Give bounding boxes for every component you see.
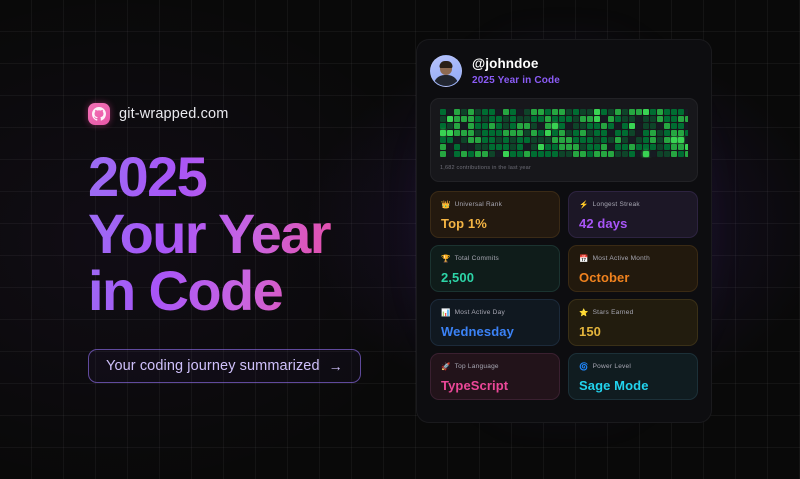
contribution-cell <box>608 151 614 157</box>
contribution-cell <box>594 130 600 136</box>
contribution-cell <box>580 144 586 150</box>
contribution-cell <box>447 137 453 143</box>
contribution-cell <box>629 151 635 157</box>
contribution-cell <box>503 109 509 115</box>
headline-line-3: in Code <box>88 262 388 319</box>
contribution-cell <box>461 144 467 150</box>
contribution-cell <box>629 137 635 143</box>
contribution-cell <box>447 130 453 136</box>
contribution-cell <box>475 144 481 150</box>
contribution-cell <box>510 137 516 143</box>
contribution-cell <box>503 123 509 129</box>
contribution-cell <box>496 130 502 136</box>
contribution-cell <box>468 123 474 129</box>
contribution-cell <box>601 130 607 136</box>
contribution-cell <box>475 151 481 157</box>
contribution-cell <box>671 109 677 115</box>
contribution-cell <box>440 130 446 136</box>
contribution-cell <box>489 109 495 115</box>
contribution-cell <box>657 109 663 115</box>
contribution-cell <box>503 151 509 157</box>
contribution-cell <box>510 151 516 157</box>
contribution-cell <box>615 137 621 143</box>
contribution-cell <box>573 144 579 150</box>
contribution-cell <box>601 109 607 115</box>
contribution-cell <box>503 116 509 122</box>
contribution-cell <box>643 151 649 157</box>
contribution-cell <box>566 123 572 129</box>
stat-value: Wednesday <box>441 324 549 339</box>
arrow-right-icon: → <box>329 358 343 374</box>
contribution-cell <box>580 116 586 122</box>
brand-name: git-wrapped.com <box>119 106 228 122</box>
lightning-icon: ⚡ <box>579 201 589 209</box>
contribution-cell <box>489 130 495 136</box>
contribution-cell <box>475 116 481 122</box>
contribution-cell <box>685 144 688 150</box>
contribution-cell <box>545 130 551 136</box>
contribution-cell <box>440 144 446 150</box>
contribution-cell <box>608 144 614 150</box>
contribution-cell <box>517 130 523 136</box>
contribution-cell <box>517 137 523 143</box>
contribution-cell <box>622 130 628 136</box>
contribution-cell <box>643 137 649 143</box>
github-cat-icon <box>88 103 110 125</box>
contribution-cell <box>594 137 600 143</box>
contribution-cell <box>475 109 481 115</box>
contribution-cell <box>650 109 656 115</box>
contribution-cell <box>664 116 670 122</box>
contribution-cell <box>468 144 474 150</box>
stat-value: Sage Mode <box>579 378 687 393</box>
stat-card-power-level: 🌀Power LevelSage Mode <box>568 353 698 400</box>
contribution-cell <box>615 151 621 157</box>
contribution-cell <box>531 116 537 122</box>
contribution-cell <box>538 109 544 115</box>
stat-card-universal-rank: 👑Universal RankTop 1% <box>430 191 560 238</box>
contribution-cell <box>601 116 607 122</box>
contribution-cell <box>657 144 663 150</box>
contribution-cell <box>510 116 516 122</box>
contribution-cell <box>629 109 635 115</box>
contribution-cell <box>678 137 684 143</box>
stat-label: Total Commits <box>455 256 499 263</box>
stat-card-most-active-day: 📊Most Active DayWednesday <box>430 299 560 346</box>
contribution-cell <box>580 123 586 129</box>
stat-value: October <box>579 270 687 285</box>
contribution-cell <box>503 137 509 143</box>
contribution-cell <box>524 130 530 136</box>
stat-label: Top Language <box>455 364 499 371</box>
contribution-cell <box>650 130 656 136</box>
contribution-cell <box>496 109 502 115</box>
contribution-cell <box>482 151 488 157</box>
contribution-cell <box>664 137 670 143</box>
contribution-cell <box>657 116 663 122</box>
contribution-cell <box>496 144 502 150</box>
contribution-cell <box>643 130 649 136</box>
stat-value: TypeScript <box>441 378 549 393</box>
headline-line-2: Your Year <box>88 205 388 262</box>
contribution-cell <box>622 137 628 143</box>
card-header: @johndoe 2025 Year in Code <box>430 54 698 88</box>
stat-card-total-commits: 🏆Total Commits2,500 <box>430 245 560 292</box>
contribution-cell <box>685 130 688 136</box>
contribution-cell <box>440 151 446 157</box>
contribution-cell <box>664 123 670 129</box>
contribution-cell <box>580 130 586 136</box>
card-subtitle: 2025 Year in Code <box>472 75 560 86</box>
contribution-cell <box>636 151 642 157</box>
contribution-cell <box>482 116 488 122</box>
contribution-cell <box>622 144 628 150</box>
contribution-cell <box>608 130 614 136</box>
contribution-cell <box>489 151 495 157</box>
contribution-cell <box>629 123 635 129</box>
contribution-cell <box>482 130 488 136</box>
stat-card-top-language: 🚀Top LanguageTypeScript <box>430 353 560 400</box>
contribution-cell <box>496 151 502 157</box>
contribution-cell <box>636 144 642 150</box>
hero-section: git-wrapped.com 2025 Your Year in Code Y… <box>88 102 388 383</box>
stat-label-row: ⭐Stars Earned <box>579 309 687 317</box>
contribution-cell <box>664 130 670 136</box>
contribution-cell <box>524 137 530 143</box>
contribution-cell <box>531 137 537 143</box>
contribution-cell <box>475 130 481 136</box>
contribution-cell <box>454 109 460 115</box>
stat-value: 42 days <box>579 216 687 231</box>
contribution-cell <box>461 130 467 136</box>
contribution-cell <box>517 109 523 115</box>
contribution-cell <box>552 109 558 115</box>
contribution-cell <box>566 116 572 122</box>
contribution-graph-panel: 1,682 contributions in the last year <box>430 98 698 182</box>
crown-icon: 👑 <box>441 201 451 209</box>
contribution-cell <box>643 123 649 129</box>
contribution-cell <box>650 116 656 122</box>
contribution-cell <box>587 137 593 143</box>
contribution-cell <box>454 137 460 143</box>
contribution-cell <box>538 151 544 157</box>
contribution-cell <box>629 144 635 150</box>
contribution-cell <box>503 130 509 136</box>
contribution-cell <box>685 109 688 115</box>
contribution-cell <box>573 137 579 143</box>
contribution-cell <box>517 144 523 150</box>
contribution-cell <box>559 144 565 150</box>
stat-card-stars-earned: ⭐Stars Earned150 <box>568 299 698 346</box>
contribution-cell <box>524 116 530 122</box>
brand-logo-row: git-wrapped.com <box>88 102 388 126</box>
contribution-cell <box>643 116 649 122</box>
contribution-cell <box>440 137 446 143</box>
contribution-cell <box>468 130 474 136</box>
stat-label-row: ⚡Longest Streak <box>579 201 687 209</box>
contribution-cell <box>678 123 684 129</box>
contribution-cell <box>510 109 516 115</box>
contribution-cell <box>580 137 586 143</box>
stat-label-row: 🌀Power Level <box>579 363 687 371</box>
calendar-icon: 📅 <box>579 255 589 263</box>
contribution-cell <box>615 130 621 136</box>
contribution-cell <box>489 144 495 150</box>
stat-value: Top 1% <box>441 216 549 231</box>
contribution-cell <box>587 116 593 122</box>
contribution-cell <box>440 109 446 115</box>
contribution-cell <box>608 116 614 122</box>
contribution-cell <box>440 123 446 129</box>
contribution-cell <box>664 109 670 115</box>
stat-value: 150 <box>579 324 687 339</box>
contribution-cell <box>552 144 558 150</box>
contribution-cell <box>587 109 593 115</box>
contribution-cell <box>454 123 460 129</box>
contribution-cell <box>601 151 607 157</box>
contribution-cell <box>517 151 523 157</box>
rocket-icon: 🚀 <box>441 363 451 371</box>
contribution-cell <box>538 116 544 122</box>
contribution-cell <box>468 151 474 157</box>
contribution-cell <box>671 130 677 136</box>
contribution-cell <box>615 116 621 122</box>
contribution-cell <box>447 109 453 115</box>
contribution-cell <box>482 123 488 129</box>
contribution-cell <box>615 144 621 150</box>
contribution-cell <box>566 109 572 115</box>
contribution-cell <box>559 116 565 122</box>
contribution-cell <box>685 116 688 122</box>
contribution-cell <box>461 116 467 122</box>
contribution-cell <box>594 123 600 129</box>
contribution-cell <box>573 130 579 136</box>
contribution-cell <box>657 151 663 157</box>
wrapped-card: @johndoe 2025 Year in Code 1,682 contrib… <box>416 39 712 423</box>
contribution-cell <box>657 123 663 129</box>
contribution-cell <box>524 123 530 129</box>
contribution-cell <box>636 130 642 136</box>
contribution-cell <box>587 151 593 157</box>
contribution-cell <box>447 116 453 122</box>
contribution-cell <box>608 137 614 143</box>
contribution-cell <box>538 137 544 143</box>
contribution-cell <box>531 144 537 150</box>
contribution-cell <box>657 130 663 136</box>
contribution-cell <box>517 123 523 129</box>
contribution-cell <box>573 123 579 129</box>
avatar <box>430 55 462 87</box>
contribution-cell <box>559 123 565 129</box>
contribution-cell <box>678 109 684 115</box>
contribution-cell <box>566 137 572 143</box>
contribution-cell <box>601 137 607 143</box>
cyclone-icon: 🌀 <box>579 363 589 371</box>
contribution-cell <box>587 144 593 150</box>
stat-label-row: 🚀Top Language <box>441 363 549 371</box>
contribution-cell <box>594 109 600 115</box>
contribution-cell <box>538 123 544 129</box>
contribution-cell <box>559 130 565 136</box>
contribution-cell <box>538 130 544 136</box>
contribution-cell <box>475 137 481 143</box>
contribution-cell <box>510 123 516 129</box>
contribution-cell <box>580 109 586 115</box>
contribution-cell <box>622 116 628 122</box>
contribution-cell <box>510 144 516 150</box>
contribution-cell <box>587 123 593 129</box>
contribution-cell <box>636 123 642 129</box>
stat-label-row: 👑Universal Rank <box>441 201 549 209</box>
contribution-cell <box>461 123 467 129</box>
contribution-cell <box>454 144 460 150</box>
contribution-cell <box>545 123 551 129</box>
contribution-cell <box>552 137 558 143</box>
page-title: 2025 Your Year in Code <box>88 148 388 319</box>
contribution-cell <box>531 109 537 115</box>
contribution-cell <box>594 144 600 150</box>
contribution-cell <box>552 151 558 157</box>
contribution-cell <box>468 116 474 122</box>
contribution-cell <box>531 130 537 136</box>
contribution-cell <box>524 144 530 150</box>
headline-line-1: 2025 <box>88 148 388 205</box>
contribution-cell <box>447 144 453 150</box>
contribution-cell <box>447 151 453 157</box>
contribution-cell <box>650 144 656 150</box>
contribution-cell <box>454 151 460 157</box>
stat-label: Stars Earned <box>593 310 634 317</box>
contribution-cell <box>489 116 495 122</box>
contribution-cell <box>573 116 579 122</box>
contribution-cell <box>559 109 565 115</box>
contribution-cell <box>685 137 688 143</box>
trophy-icon: 🏆 <box>441 255 451 263</box>
contribution-cell <box>545 144 551 150</box>
contribution-cell <box>594 116 600 122</box>
contribution-cell <box>482 137 488 143</box>
contribution-cell <box>468 109 474 115</box>
contribution-cell <box>671 116 677 122</box>
contribution-cell <box>447 123 453 129</box>
contribution-cell <box>559 151 565 157</box>
stat-value: 2,500 <box>441 270 549 285</box>
contribution-cell <box>678 130 684 136</box>
contribution-cell <box>608 109 614 115</box>
contribution-cell <box>678 144 684 150</box>
contribution-cell <box>601 123 607 129</box>
contribution-cell <box>587 130 593 136</box>
contribution-cell <box>622 123 628 129</box>
contribution-cell <box>440 116 446 122</box>
contribution-cell <box>636 137 642 143</box>
contribution-graph <box>440 109 688 158</box>
contribution-cell <box>545 151 551 157</box>
contribution-cell <box>538 144 544 150</box>
contribution-cell <box>650 137 656 143</box>
contribution-cell <box>482 109 488 115</box>
contribution-cell <box>615 123 621 129</box>
contribution-cell <box>531 123 537 129</box>
contribution-cell <box>461 137 467 143</box>
contribution-cell <box>643 109 649 115</box>
contribution-cell <box>489 137 495 143</box>
contribution-cell <box>454 130 460 136</box>
contribution-cell <box>468 137 474 143</box>
contribution-cell <box>664 151 670 157</box>
contribution-cell <box>629 130 635 136</box>
stat-label: Most Active Month <box>593 256 650 263</box>
contribution-cell <box>524 109 530 115</box>
stat-label-row: 📊Most Active Day <box>441 309 549 317</box>
contribution-cell <box>685 123 688 129</box>
stat-label: Longest Streak <box>593 202 640 209</box>
contribution-cell <box>566 151 572 157</box>
contribution-cell <box>608 123 614 129</box>
contribution-cell <box>496 116 502 122</box>
contribution-cell <box>678 116 684 122</box>
contribution-cell <box>545 109 551 115</box>
contribution-cell <box>545 116 551 122</box>
contribution-cell <box>678 151 684 157</box>
contribution-cell <box>475 123 481 129</box>
contribution-cell <box>594 151 600 157</box>
contribution-cell <box>643 144 649 150</box>
contribution-cell <box>566 144 572 150</box>
stat-card-most-active-month: 📅Most Active MonthOctober <box>568 245 698 292</box>
contribution-cell <box>573 151 579 157</box>
contribution-cell <box>552 130 558 136</box>
star-icon: ⭐ <box>579 309 589 317</box>
stat-label: Power Level <box>593 364 632 371</box>
contribution-cell <box>573 109 579 115</box>
contribution-cell <box>622 109 628 115</box>
contribution-cell <box>552 116 558 122</box>
contribution-cell <box>657 137 663 143</box>
contribution-cell <box>461 151 467 157</box>
contribution-cell <box>531 151 537 157</box>
cta-button[interactable]: Your coding journey summarized → <box>88 349 361 383</box>
cta-label: Your coding journey summarized <box>106 358 320 374</box>
stats-grid: 👑Universal RankTop 1%⚡Longest Streak42 d… <box>430 191 698 400</box>
contribution-cell <box>615 109 621 115</box>
contribution-cell <box>622 151 628 157</box>
contribution-cell <box>671 144 677 150</box>
stat-label: Universal Rank <box>455 202 503 209</box>
contribution-cell <box>671 123 677 129</box>
contribution-cell <box>671 137 677 143</box>
contribution-cell <box>685 151 688 157</box>
stat-label: Most Active Day <box>455 310 505 317</box>
contribution-cell <box>552 123 558 129</box>
contribution-cell <box>636 116 642 122</box>
contribution-cell <box>489 123 495 129</box>
stat-label-row: 📅Most Active Month <box>579 255 687 263</box>
contribution-cell <box>524 151 530 157</box>
contribution-cell <box>482 144 488 150</box>
contribution-cell <box>650 123 656 129</box>
contribution-cell <box>559 137 565 143</box>
stat-label-row: 🏆Total Commits <box>441 255 549 263</box>
card-identity: @johndoe 2025 Year in Code <box>472 56 560 86</box>
contribution-cell <box>671 151 677 157</box>
contribution-cell <box>566 130 572 136</box>
stat-card-longest-streak: ⚡Longest Streak42 days <box>568 191 698 238</box>
contribution-cell <box>664 144 670 150</box>
contribution-cell <box>461 109 467 115</box>
contribution-cell <box>629 116 635 122</box>
user-handle: @johndoe <box>472 56 560 73</box>
